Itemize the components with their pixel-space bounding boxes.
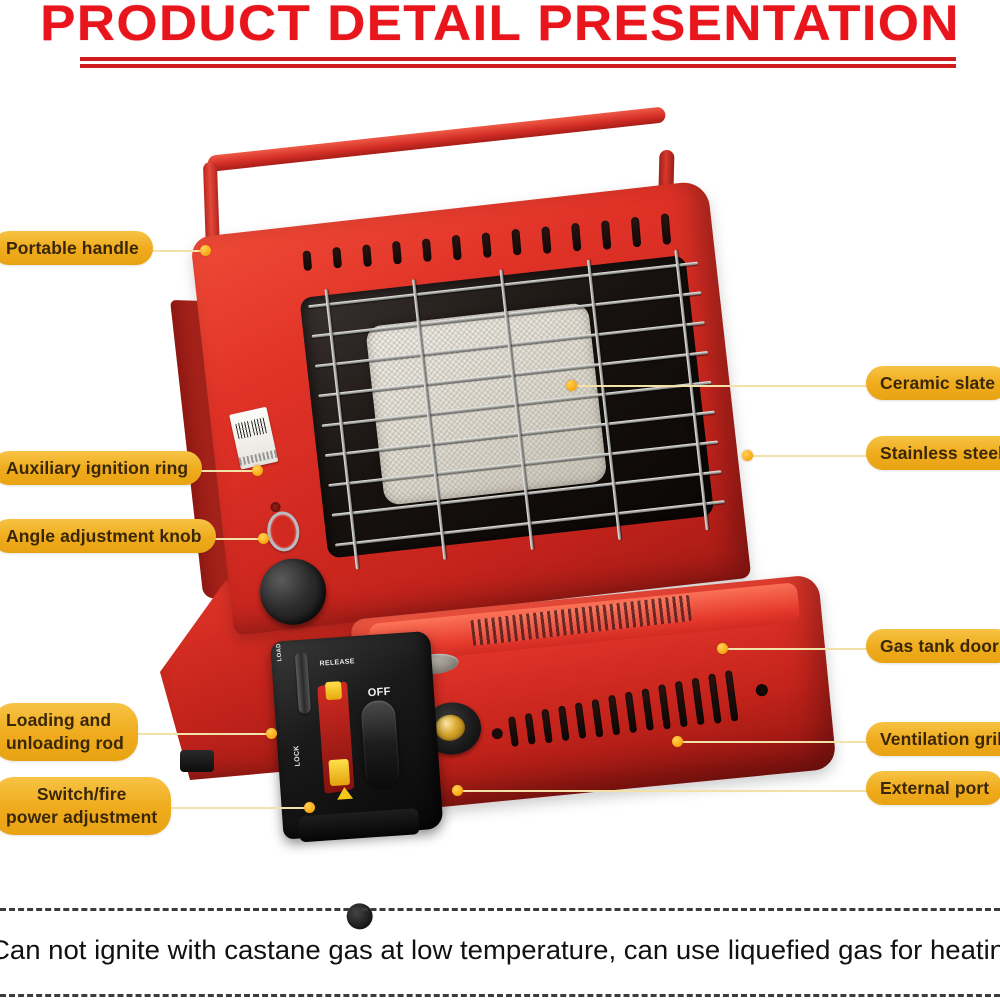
top-vent-slot — [332, 247, 342, 268]
product-diagram: RELEASE OFF LOCK LOAD Portable handle Au… — [0, 95, 1000, 910]
callout-loading-unloading-rod[interactable]: Loading and unloading rod — [0, 703, 138, 761]
top-vent-slot — [601, 220, 611, 250]
divider-line-upper — [80, 57, 956, 61]
ventilation-slot — [525, 713, 536, 745]
title-divider — [80, 57, 956, 69]
ventilation-slot — [575, 702, 587, 739]
vent-pinhole-left — [491, 728, 503, 740]
portable-gas-heater-image: RELEASE OFF LOCK LOAD — [150, 150, 870, 880]
ventilation-slot — [725, 670, 739, 721]
ventilation-slot — [591, 699, 603, 738]
panel-label-lock: LOCK — [293, 745, 301, 766]
callout-ceramic-slate[interactable]: Ceramic slate — [866, 366, 1000, 400]
callout-switch-power-line1: Switch/fire — [37, 784, 127, 804]
leader-line-external-port — [460, 790, 870, 792]
carry-handle-bar — [207, 106, 666, 172]
callout-switch-fire-power-adjustment[interactable]: Switch/fire power adjustment — [0, 777, 171, 835]
leader-line-gas-tank-door — [725, 648, 870, 650]
loading-unloading-rod-part[interactable] — [295, 651, 311, 714]
stainless-steel-wire-grille — [307, 248, 728, 572]
ventilation-slot — [558, 706, 570, 741]
footer-note-section: Can not ignite with castane gas at low t… — [0, 908, 1000, 1000]
ventilation-slot — [691, 677, 704, 725]
ventilation-slot — [608, 695, 620, 735]
footer-divider-bottom — [0, 994, 1000, 997]
top-vent-slot — [571, 223, 581, 252]
warning-pictogram-left — [235, 421, 252, 440]
power-scale-yellow-bottom — [328, 759, 350, 786]
callout-loading-rod-line1: Loading and — [6, 710, 111, 730]
callout-auxiliary-ignition-ring[interactable]: Auxiliary ignition ring — [0, 451, 202, 485]
marker-dot-gas-tank-door — [717, 643, 728, 654]
callout-portable-handle[interactable]: Portable handle — [0, 231, 153, 265]
panel-label-release: RELEASE — [319, 658, 355, 667]
ventilation-slot — [508, 716, 519, 747]
warning-pictogram-right — [251, 417, 268, 436]
top-vent-slot — [392, 241, 402, 264]
auxiliary-ignition-ring-part[interactable] — [265, 510, 301, 553]
panel-label-off: OFF — [367, 686, 391, 700]
top-vent-slot — [511, 229, 521, 256]
ventilation-slot — [708, 674, 721, 724]
top-vent-slot — [661, 214, 672, 245]
marker-dot-switch-power — [304, 802, 315, 813]
heater-foot-left — [180, 750, 214, 772]
switch-fire-power-lever[interactable] — [360, 699, 400, 787]
footer-divider-top — [0, 908, 1000, 911]
callout-gas-tank-door[interactable]: Gas tank door — [866, 629, 1000, 663]
callout-external-port[interactable]: External port — [866, 771, 1000, 805]
marker-dot-loading-rod — [266, 728, 277, 739]
footer-note-text: Can not ignite with castane gas at low t… — [0, 926, 1000, 974]
title-bar: PRODUCT DETAIL PRESENTATION — [0, 0, 1000, 58]
top-vent-slot — [631, 217, 641, 247]
divider-line-lower — [80, 64, 956, 68]
top-vent-slot — [452, 235, 462, 260]
marker-dot-ignition-ring — [252, 465, 263, 476]
leader-line-switch-power — [148, 807, 310, 809]
marker-dot-ceramic-slate — [566, 380, 577, 391]
heater-head-unit — [190, 180, 751, 635]
ventilation-grille-slots — [505, 664, 747, 757]
callout-switch-power-line2: power adjustment — [6, 807, 157, 827]
marker-dot-angle-knob — [258, 533, 269, 544]
top-vent-slot — [302, 250, 312, 271]
callout-ventilation-grille[interactable]: Ventilation grille — [866, 722, 1000, 756]
power-scale-yellow-top — [325, 681, 342, 700]
top-vent-slot — [482, 232, 492, 258]
leader-line-ceramic-slate — [574, 385, 870, 387]
leader-line-ventilation-grille — [680, 741, 870, 743]
ventilation-slot — [675, 681, 688, 728]
top-vent-slot — [541, 226, 551, 254]
callout-loading-rod-line2: unloading rod — [6, 733, 124, 753]
ventilation-slot — [641, 688, 654, 731]
burner-window — [299, 255, 714, 559]
marker-dot-ventilation-grille — [672, 736, 683, 747]
callout-stainless-steel[interactable]: Stainless steel — [866, 436, 1000, 470]
power-indicator-triangle — [336, 787, 353, 800]
ventilation-slot — [658, 684, 671, 729]
ventilation-slot — [625, 691, 637, 733]
top-vent-slot — [422, 238, 432, 262]
panel-label-load: LOAD — [276, 643, 283, 662]
angle-adjustment-knob-part[interactable] — [257, 555, 330, 628]
marker-dot-external-port — [452, 785, 463, 796]
callout-angle-adjustment-knob[interactable]: Angle adjustment knob — [0, 519, 216, 553]
warning-sticker-text — [239, 450, 278, 466]
leader-line-stainless-steel — [750, 455, 870, 457]
control-panel-base — [298, 808, 420, 842]
vent-pinhole-right — [755, 684, 768, 697]
marker-dot-portable-handle — [200, 245, 211, 256]
ventilation-slot — [541, 709, 552, 743]
marker-dot-stainless-steel — [742, 450, 753, 461]
page-title: PRODUCT DETAIL PRESENTATION — [0, 0, 1000, 52]
leader-line-loading-rod — [122, 733, 272, 735]
top-vent-slot — [362, 244, 372, 266]
warning-sticker — [229, 407, 278, 470]
